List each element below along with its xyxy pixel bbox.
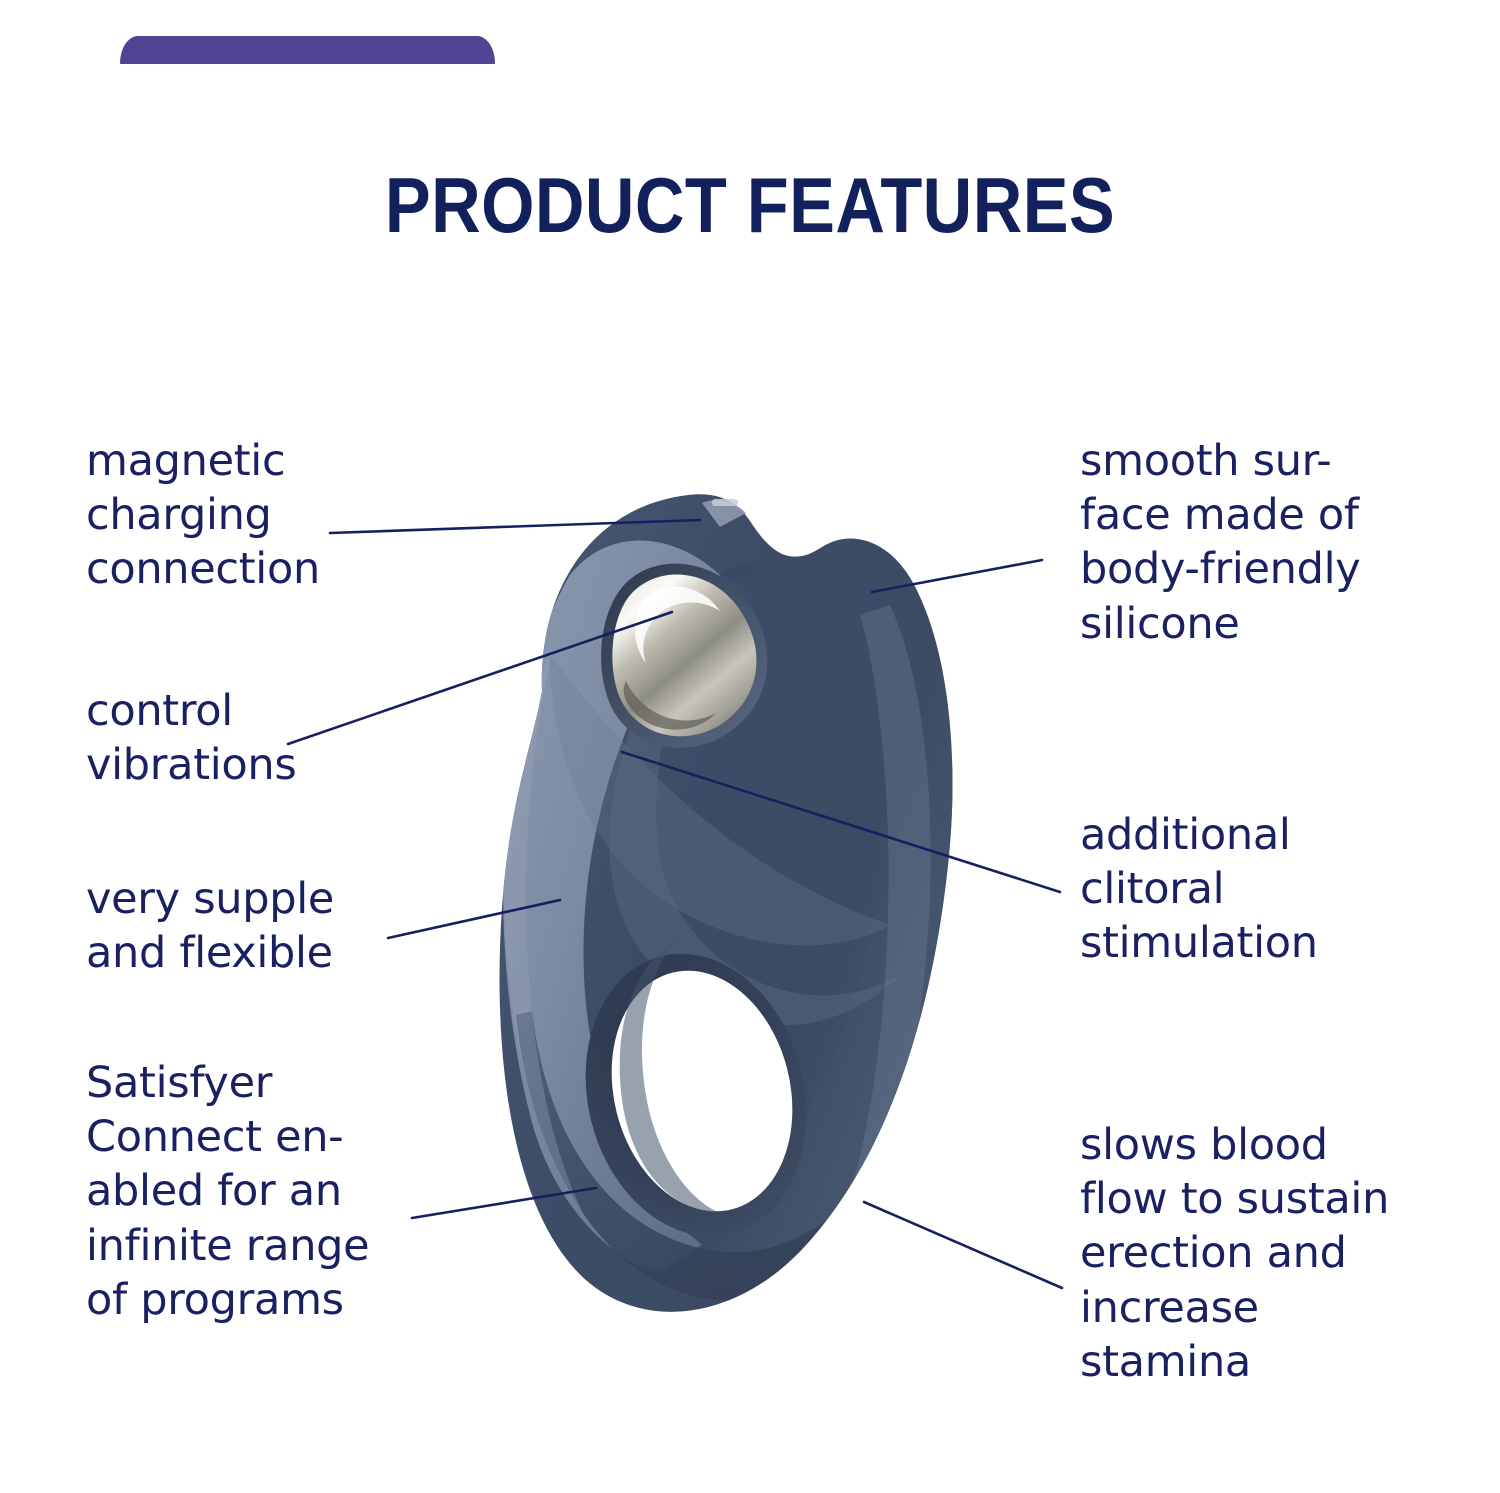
callout-additional-clitoral-stimulation: additional clitoral stimulation [1080,808,1318,971]
callout-magnetic-charging-connection: magnetic charging connection [86,434,320,597]
callout-control-vibrations: control vibrations [86,684,297,792]
product-image [420,455,980,1350]
product-features-infographic: PRODUCT FEATURES [0,0,1500,1493]
callout-satisfyer-connect-enabled: Satisfyer Connect en- abled for an infin… [86,1056,369,1327]
callout-smooth-surface-silicone: smooth sur- face made of body-friendly s… [1080,434,1360,651]
purple-accent-bar [120,36,495,64]
callout-slows-blood-flow: slows blood flow to sustain erection and… [1080,1118,1389,1389]
page-title: PRODUCT FEATURES [90,160,1410,251]
callout-very-supple-and-flexible: very supple and flexible [86,872,334,980]
